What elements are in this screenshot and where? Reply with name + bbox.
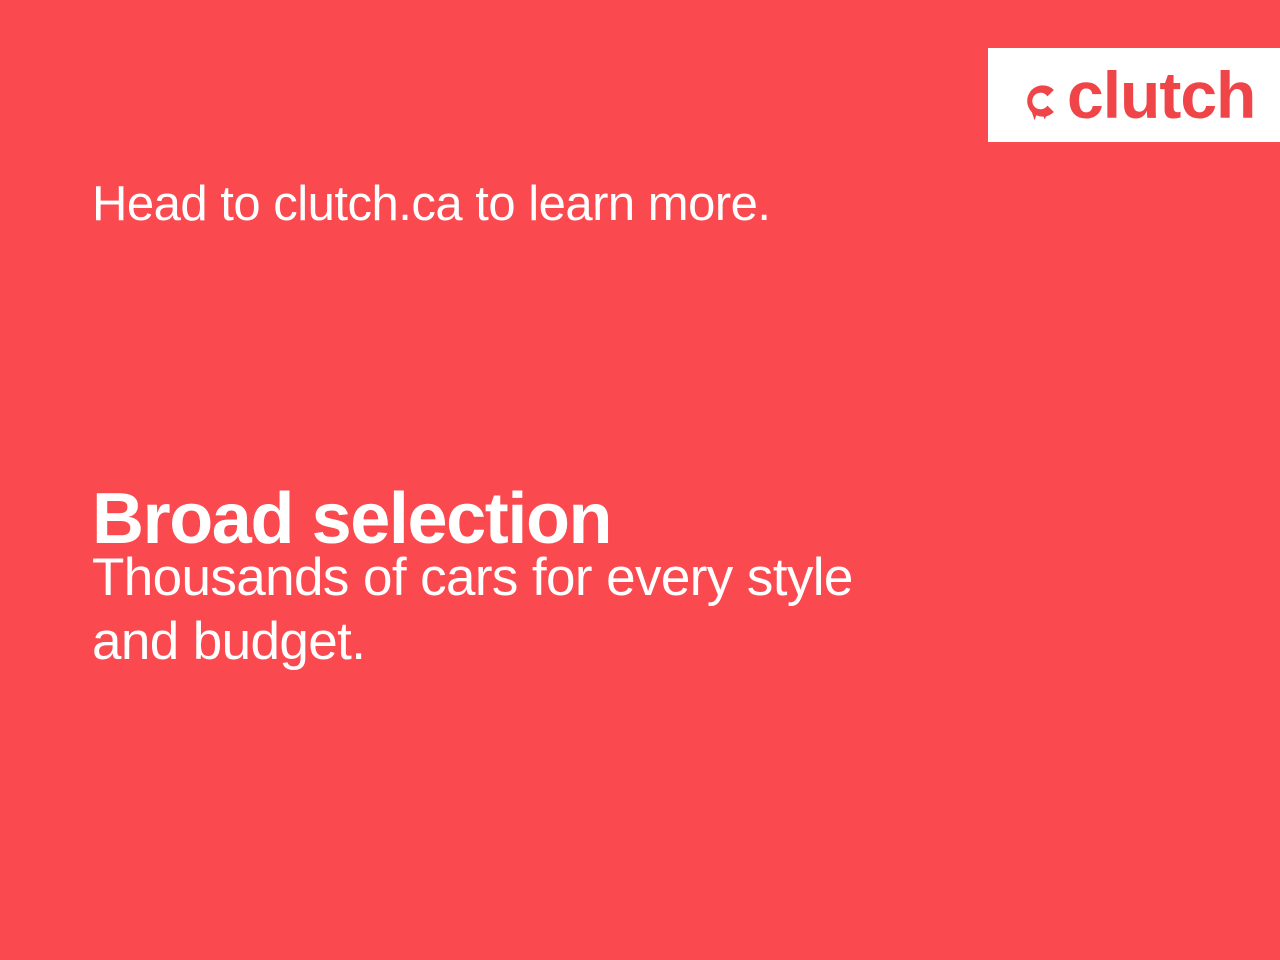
subhead-line-1: Thousands of cars for every style: [92, 546, 1052, 610]
subhead-text: Thousands of cars for every style and bu…: [92, 546, 1052, 674]
slide-canvas: clutch Head to clutch.ca to learn more. …: [0, 0, 1280, 960]
clutch-logo-plate[interactable]: clutch: [988, 48, 1280, 142]
clutch-wordmark: clutch: [1067, 62, 1255, 128]
subhead-line-2: and budget.: [92, 610, 1052, 674]
clutch-c-steering-wheel-icon: [1018, 78, 1064, 124]
logo-lockup: clutch: [1018, 62, 1255, 128]
eyebrow-text: Head to clutch.ca to learn more.: [92, 178, 771, 232]
